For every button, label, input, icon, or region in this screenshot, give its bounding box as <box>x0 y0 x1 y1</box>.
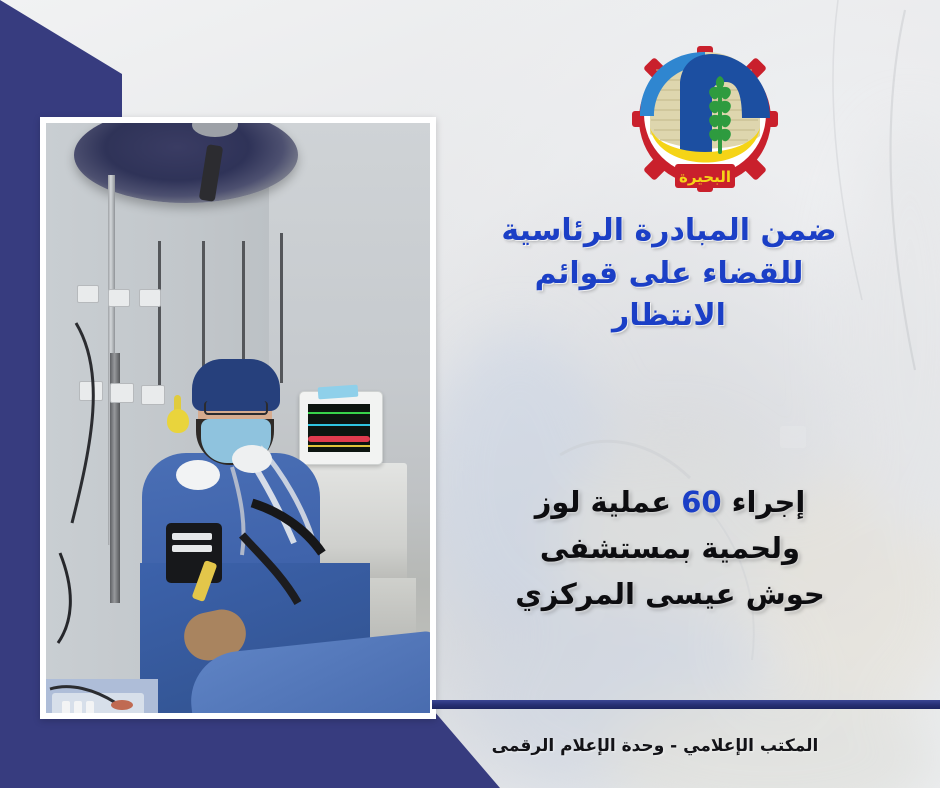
headline-line-1: ضمن المبادرة الرئاسية <box>434 210 904 253</box>
body-block: إجراء 60 عملية لوز ولحمية بمستشفى حوش عي… <box>430 480 910 617</box>
logo-caption: البحيرة <box>679 168 731 186</box>
body-line-1-suffix: عملية لوز <box>535 485 671 519</box>
headline-block: ضمن المبادرة الرئاسية للقضاء على قوائم ا… <box>434 210 904 338</box>
photo-detail-overlay <box>46 123 430 713</box>
poster-canvas: البحيرة ضمن المبادرة الرئاسية للقضاء على… <box>0 0 940 788</box>
footer-credit: المكتب الإعلامي - وحدة الإعلام الرقمى <box>420 736 890 756</box>
headline-line-3: الانتظار <box>434 295 904 338</box>
body-line-2: ولحمية بمستشفى <box>430 526 910 572</box>
headline-line-2: للقضاء على قوائم <box>434 253 904 296</box>
operation-photo-frame <box>40 117 436 719</box>
operations-count: 60 <box>681 485 721 519</box>
footer-divider <box>432 700 940 709</box>
body-line-1-prefix: إجراء <box>732 485 806 519</box>
operation-photo <box>46 123 430 713</box>
beheira-governorate-logo: البحيرة <box>620 24 790 196</box>
body-line-3: حوش عيسى المركزي <box>430 572 910 618</box>
body-line-1: إجراء 60 عملية لوز <box>430 480 910 526</box>
